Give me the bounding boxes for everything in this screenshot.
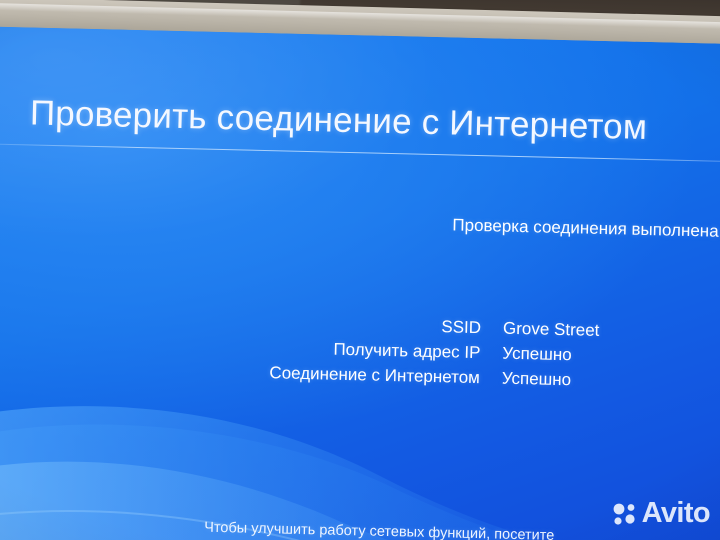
screen-background: Проверить соединение с Интернетом Провер…	[0, 26, 720, 540]
photo-of-tv-screen: Проверить соединение с Интернетом Провер…	[0, 0, 720, 540]
footer-note: Чтобы улучшить работу сетевых функций, п…	[204, 520, 554, 540]
result-value-internet-connection: Успешно	[502, 369, 572, 391]
avito-watermark: Avito	[612, 499, 710, 528]
avito-dots-icon	[612, 501, 638, 527]
result-value-ssid: Grove Street	[503, 319, 600, 341]
avito-wordmark: Avito	[642, 499, 710, 528]
status-message: Проверка соединения выполнена.	[0, 204, 720, 242]
tv-screen: Проверить соединение с Интернетом Провер…	[0, 26, 720, 540]
result-value-ip-address: Успешно	[502, 344, 572, 366]
connection-results-table: SSID Grove Street Получить адрес IP Успе…	[0, 306, 720, 400]
page-title: Проверить соединение с Интернетом	[29, 93, 647, 148]
